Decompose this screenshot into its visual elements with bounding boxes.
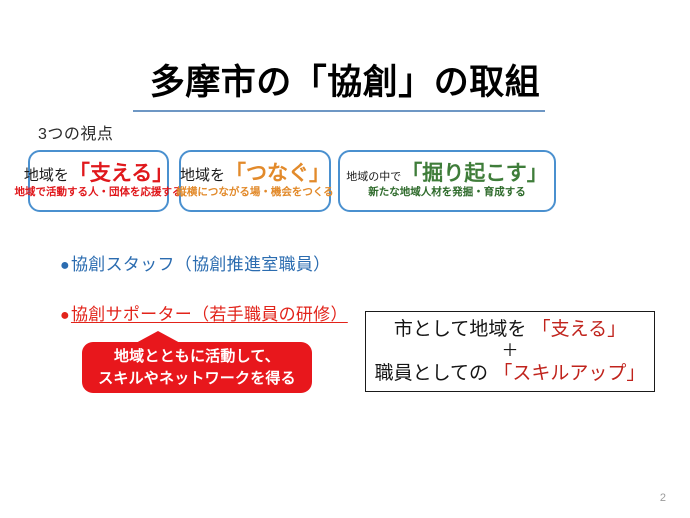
callout-line-2: スキルやネットワークを得る — [82, 368, 312, 390]
outcome-plus-symbol: ＋ — [502, 341, 519, 362]
outcome-line-1: 市として地域を 「支える」 — [394, 318, 626, 341]
perspective-box-support-sub: 地域で活動する人・団体を応援する — [15, 187, 183, 199]
perspective-box-unearth-keyword: 「掘り起こす」 — [401, 162, 548, 185]
outcome-line-3-highlight: 「スキルアップ」 — [493, 363, 645, 384]
page-number: 2 — [660, 492, 666, 504]
perspective-box-connect: 地域を「つなぐ」 縦横につながる場・機会をつくる — [179, 150, 331, 212]
perspective-box-connect-main: 地域を「つなぐ」 — [180, 163, 330, 185]
perspective-box-support: 地域を「支える」 地域で活動する人・団体を応援する — [28, 150, 169, 212]
bullet-item-staff-label: 協創スタッフ（協創推進室職員） — [71, 255, 331, 274]
outcome-line-1-highlight: 「支える」 — [532, 319, 626, 340]
callout-bubble: 地域とともに活動して、 スキルやネットワークを得る — [82, 331, 312, 393]
callout-bubble-body: 地域とともに活動して、 スキルやネットワークを得る — [82, 342, 312, 393]
bullet-item-staff: ●協創スタッフ（協創推進室職員） — [60, 250, 330, 275]
bullet-dot-icon: ● — [60, 307, 70, 324]
page-title: 多摩市の「協創」の取組 — [0, 62, 690, 104]
perspective-box-connect-sub: 縦横につながる場・機会をつくる — [176, 187, 333, 199]
perspective-box-connect-keyword: 「つなぐ」 — [225, 162, 330, 185]
perspective-box-support-main: 地域を「支える」 — [24, 163, 173, 185]
bullet-item-supporter-label: 協創サポーター（若手職員の研修） — [71, 305, 348, 324]
outcome-line-3: 職員としての 「スキルアップ」 — [375, 362, 646, 385]
perspective-box-support-lead: 地域を — [24, 167, 69, 184]
perspective-box-support-keyword: 「支える」 — [69, 162, 173, 185]
outcome-box: 市として地域を 「支える」 ＋ 職員としての 「スキルアップ」 — [365, 311, 655, 392]
slide-canvas: 多摩市の「協創」の取組 3つの視点 地域を「支える」 地域で活動する人・団体を応… — [0, 0, 690, 518]
bullet-item-supporter: ●協創サポーター（若手職員の研修） — [60, 300, 348, 325]
perspective-box-unearth-sub: 新たな地域人材を発掘・育成する — [368, 187, 526, 199]
perspective-box-unearth: 地域の中で「掘り起こす」 新たな地域人材を発掘・育成する — [338, 150, 556, 212]
bullet-dot-icon: ● — [60, 257, 70, 274]
perspective-box-unearth-main: 地域の中で「掘り起こす」 — [346, 163, 548, 185]
callout-line-1: 地域とともに活動して、 — [82, 346, 312, 368]
perspective-box-connect-lead: 地域を — [180, 167, 225, 184]
title-underline-rule — [133, 110, 545, 112]
section-subheading: 3つの視点 — [38, 120, 113, 144]
outcome-line-1-prefix: 市として地域を — [394, 319, 532, 340]
perspective-box-unearth-lead: 地域の中で — [346, 171, 401, 183]
outcome-line-3-prefix: 職員としての — [375, 363, 494, 384]
